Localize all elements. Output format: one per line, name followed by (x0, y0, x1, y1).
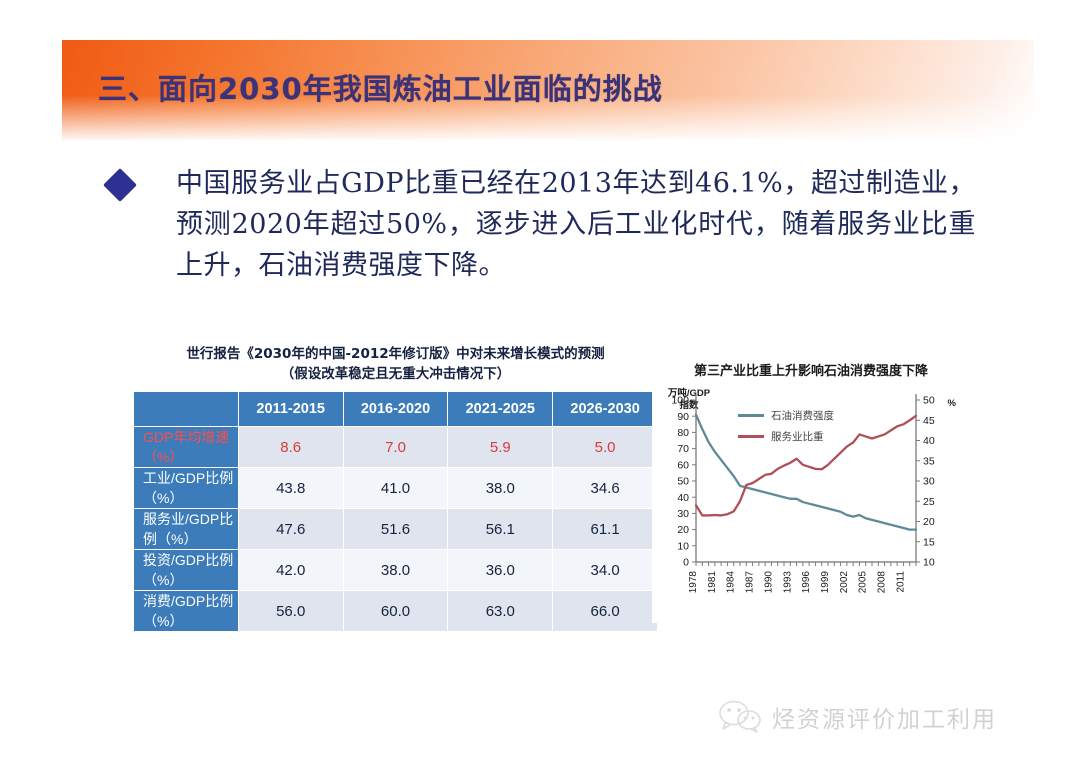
table-cell: 38.0 (343, 550, 448, 591)
table-cell: 34.6 (553, 468, 658, 509)
table-col-header-2: 2021-2025 (448, 392, 553, 427)
svg-text:30: 30 (923, 476, 935, 488)
table-corner-cell (134, 392, 239, 427)
series-line-service-share (696, 416, 916, 516)
slide-root: 三、面向2030年我国炼油工业面临的挑战 中国服务业占GDP比重已经在2013年… (0, 0, 1080, 763)
watermark: 烃资源评价加工利用 (718, 700, 997, 734)
svg-text:20: 20 (923, 516, 935, 528)
svg-text:1984: 1984 (726, 571, 737, 594)
table-cell: 41.0 (343, 468, 448, 509)
table-caption: 世行报告《2030年的中国-2012年修订版》中对未来增长模式的预测 （假设改革… (133, 345, 658, 384)
table-cell: 63.0 (448, 591, 553, 632)
table-col-header-1: 2016-2020 (343, 392, 448, 427)
table-cell: 66.0 (553, 591, 658, 632)
prediction-table: 2011-2015 2016-2020 2021-2025 2026-2030 … (133, 391, 658, 632)
svg-text:2002: 2002 (839, 571, 850, 594)
diamond-bullet-icon (103, 168, 137, 202)
table-col-header-0: 2011-2015 (238, 392, 343, 427)
table-cell: 7.0 (343, 427, 448, 468)
svg-text:50: 50 (677, 476, 689, 488)
table-cell: 43.8 (238, 468, 343, 509)
table-row-label: 消费/GDP比例（%） (134, 591, 239, 632)
table-cell: 34.0 (553, 550, 658, 591)
svg-text:45: 45 (923, 415, 935, 427)
table-row: GDP年均增速（%） 8.6 7.0 5.9 5.0 (134, 427, 658, 468)
svg-text:70: 70 (677, 443, 689, 455)
bullet-paragraph: 中国服务业占GDP比重已经在2013年达到46.1%，超过制造业，预测2020年… (108, 163, 988, 286)
table-row: 服务业/GDP比例（%） 47.6 51.6 56.1 61.1 (134, 509, 658, 550)
table-cell: 5.0 (553, 427, 658, 468)
table-col-header-3: 2026-2030 (553, 392, 658, 427)
table-cell: 56.1 (448, 509, 553, 550)
svg-text:2008: 2008 (877, 571, 888, 594)
table-cell: 51.6 (343, 509, 448, 550)
svg-text:10: 10 (923, 557, 935, 569)
svg-text:1993: 1993 (782, 571, 793, 594)
table-body: GDP年均增速（%） 8.6 7.0 5.9 5.0 工业/GDP比例（%） 4… (134, 427, 658, 632)
chart-x-tick-labels: 1978198119841987199019931996199920022005… (688, 571, 906, 594)
svg-text:40: 40 (923, 435, 935, 447)
svg-text:80: 80 (677, 427, 689, 439)
svg-text:25: 25 (923, 496, 935, 508)
table-header-row: 2011-2015 2016-2020 2021-2025 2026-2030 (134, 392, 658, 427)
prediction-table-block: 世行报告《2030年的中国-2012年修订版》中对未来增长模式的预测 （假设改革… (133, 345, 658, 632)
table-cell: 47.6 (238, 509, 343, 550)
svg-text:90: 90 (677, 411, 689, 423)
svg-text:100: 100 (671, 395, 689, 407)
svg-text:1978: 1978 (688, 571, 699, 594)
table-cell: 60.0 (343, 591, 448, 632)
page-title: 三、面向2030年我国炼油工业面临的挑战 (98, 66, 663, 108)
svg-text:10: 10 (677, 540, 689, 552)
svg-text:50: 50 (923, 395, 935, 407)
table-row: 消费/GDP比例（%） 56.0 60.0 63.0 66.0 (134, 591, 658, 632)
table-row-label: 工业/GDP比例（%） (134, 468, 239, 509)
bullet-text: 中国服务业占GDP比重已经在2013年达到46.1%，超过制造业，预测2020年… (176, 163, 976, 286)
table-caption-line1: 世行报告《2030年的中国-2012年修订版》中对未来增长模式的预测 (133, 345, 658, 365)
oil-intensity-chart: 第三产业比重上升影响石油消费强度下降 万吨/GDP 指数 % 石油消费强度 服务… (652, 358, 970, 623)
chart-axes: 0102030405060708090100101520253035404550 (671, 394, 934, 569)
svg-text:60: 60 (677, 459, 689, 471)
table-cell: 61.1 (553, 509, 658, 550)
table-cell: 38.0 (448, 468, 553, 509)
table-cell: 56.0 (238, 591, 343, 632)
svg-text:2005: 2005 (858, 571, 869, 594)
table-caption-line2: （假设改革稳定且无重大冲击情况下） (133, 365, 658, 385)
table-header: 2011-2015 2016-2020 2021-2025 2026-2030 (134, 392, 658, 427)
chart-plot-area: 0102030405060708090100101520253035404550… (652, 376, 970, 623)
table-row-label: 服务业/GDP比例（%） (134, 509, 239, 550)
table-cell: 5.9 (448, 427, 553, 468)
wechat-logo-icon (718, 700, 762, 734)
table-cell: 8.6 (238, 427, 343, 468)
svg-text:1996: 1996 (801, 571, 812, 594)
table-row-label: 投资/GDP比例（%） (134, 550, 239, 591)
svg-text:15: 15 (923, 536, 935, 548)
table-cell: 42.0 (238, 550, 343, 591)
title-banner: 三、面向2030年我国炼油工业面临的挑战 (62, 40, 1034, 140)
svg-text:1981: 1981 (707, 571, 718, 594)
svg-text:1990: 1990 (763, 571, 774, 594)
svg-text:0: 0 (683, 557, 689, 569)
svg-text:1987: 1987 (745, 571, 756, 594)
table-row: 工业/GDP比例（%） 43.8 41.0 38.0 34.6 (134, 468, 658, 509)
svg-text:30: 30 (677, 508, 689, 520)
watermark-text: 烃资源评价加工利用 (772, 700, 997, 734)
table-row: 投资/GDP比例（%） 42.0 38.0 36.0 34.0 (134, 550, 658, 591)
table-row-label: GDP年均增速（%） (134, 427, 239, 468)
table-cell: 36.0 (448, 550, 553, 591)
svg-text:20: 20 (677, 524, 689, 536)
svg-text:35: 35 (923, 455, 935, 467)
svg-text:2011: 2011 (895, 571, 906, 593)
svg-text:1999: 1999 (820, 571, 831, 594)
svg-text:40: 40 (677, 492, 689, 504)
